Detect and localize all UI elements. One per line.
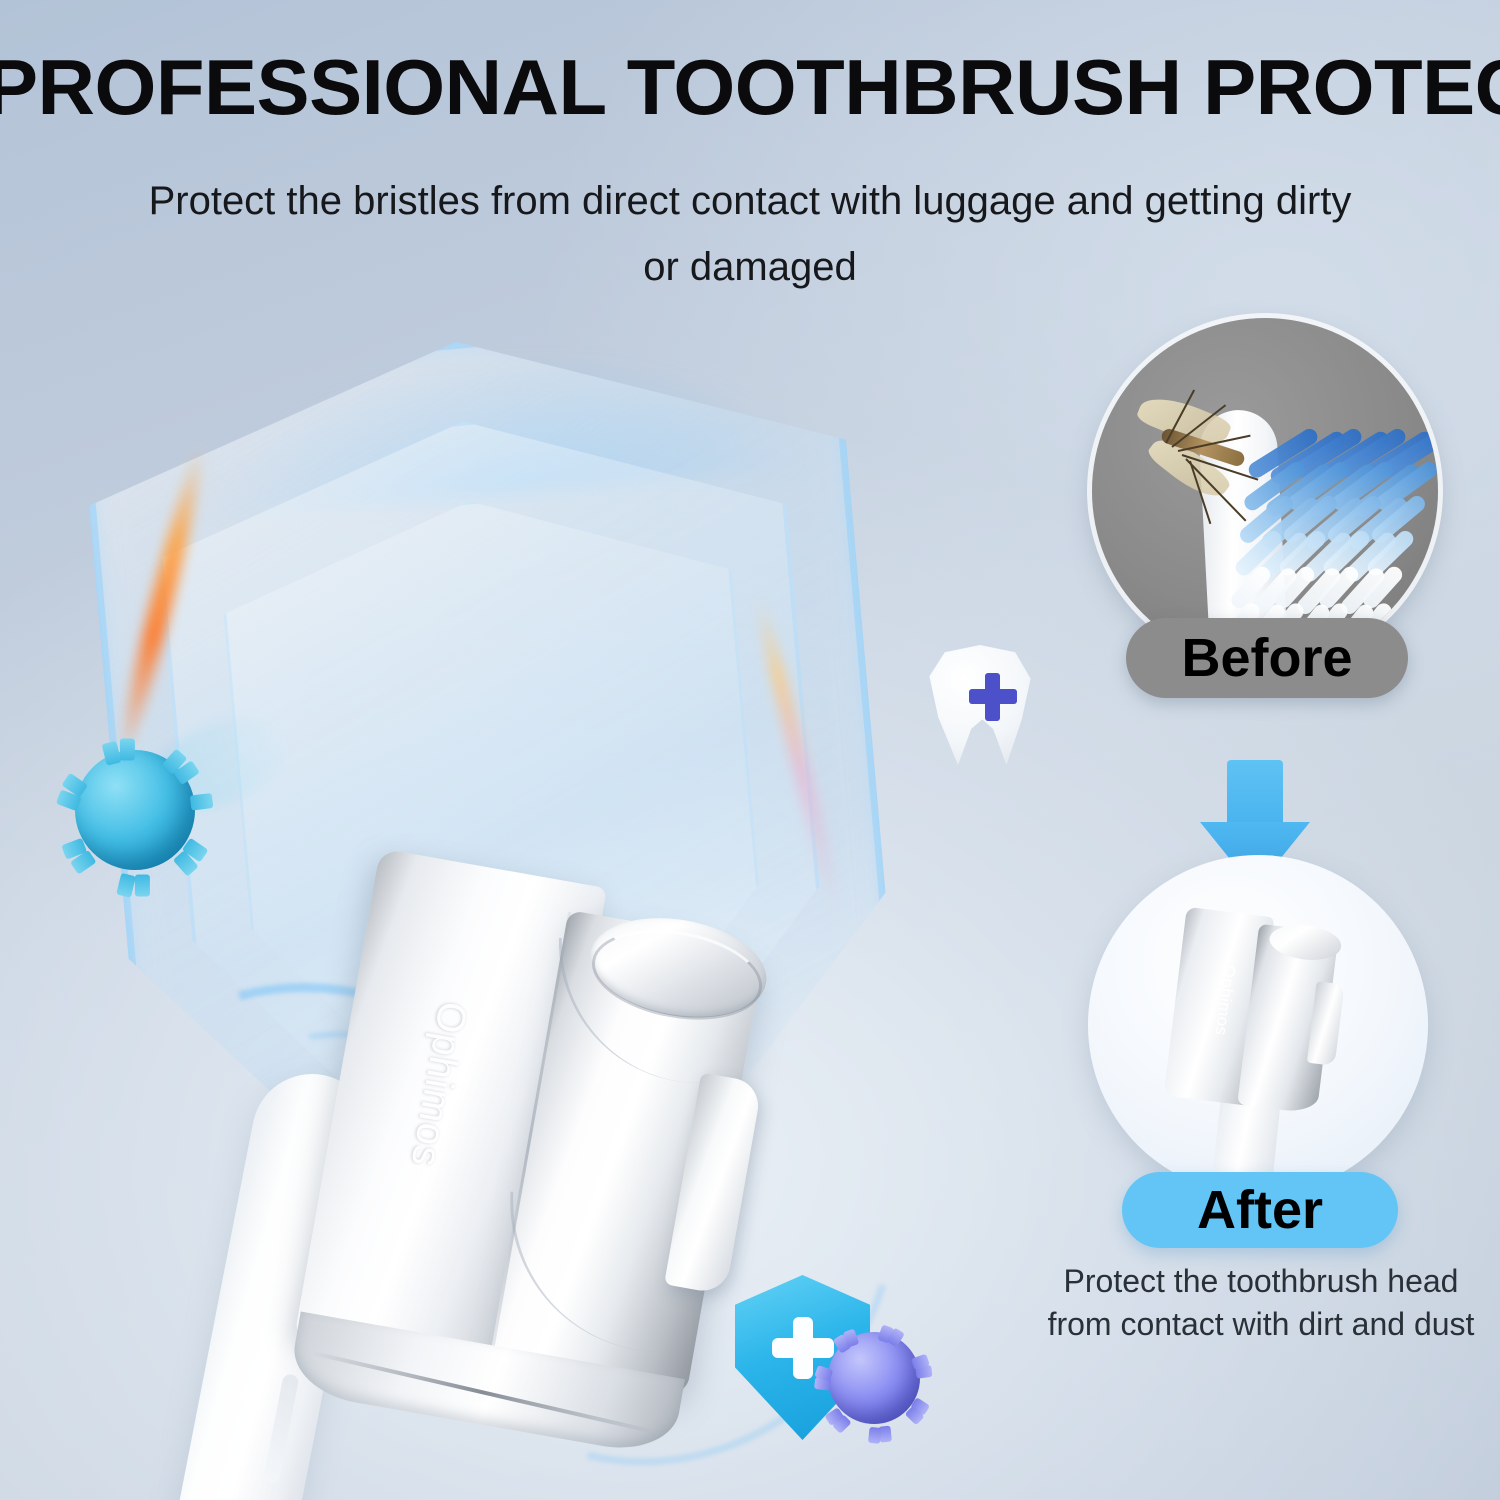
medical-cross-icon [772, 1338, 834, 1358]
after-image-circle: Ophimos [1088, 855, 1428, 1195]
before-label-text: Before [1181, 627, 1352, 689]
virus-icon [75, 750, 195, 870]
page-title: PROFESSIONAL TOOTHBRUSH PROTECTOR [0, 48, 1500, 126]
after-label-pill: After [1122, 1172, 1398, 1248]
tooth-body [925, 645, 1035, 765]
header-block: PROFESSIONAL TOOTHBRUSH PROTECTOR [0, 48, 1500, 126]
mosquito-icon [1120, 380, 1270, 520]
tooth-icon [925, 645, 1035, 765]
virus-spike [868, 1427, 882, 1444]
after-panel: Ophimos After Protect the toothbrush hea… [1060, 760, 1460, 1320]
before-panel: Before [1078, 318, 1450, 718]
product-infographic: PROFESSIONAL TOOTHBRUSH PROTECTOR Protec… [0, 0, 1500, 1500]
after-caption: Protect the toothbrush head from contact… [1018, 1260, 1500, 1346]
virus-icon [828, 1332, 920, 1424]
virus-spike [190, 793, 214, 811]
after-caption-line-1: Protect the toothbrush head [1018, 1260, 1500, 1303]
after-label-text: After [1197, 1179, 1323, 1241]
virus-spike [135, 874, 150, 896]
medical-cross-icon [969, 689, 1017, 704]
hero-scene: Ophimos [0, 300, 1080, 1500]
arrow-shaft [1227, 760, 1283, 832]
before-image-circle [1092, 318, 1438, 664]
before-label-pill: Before [1126, 618, 1408, 698]
virus-spike [120, 739, 135, 761]
after-caption-line-2: from contact with dirt and dust [1018, 1303, 1500, 1346]
page-subtitle: Protect the bristles from direct contact… [135, 168, 1365, 300]
after-product-cap: Ophimos [1162, 907, 1365, 1127]
